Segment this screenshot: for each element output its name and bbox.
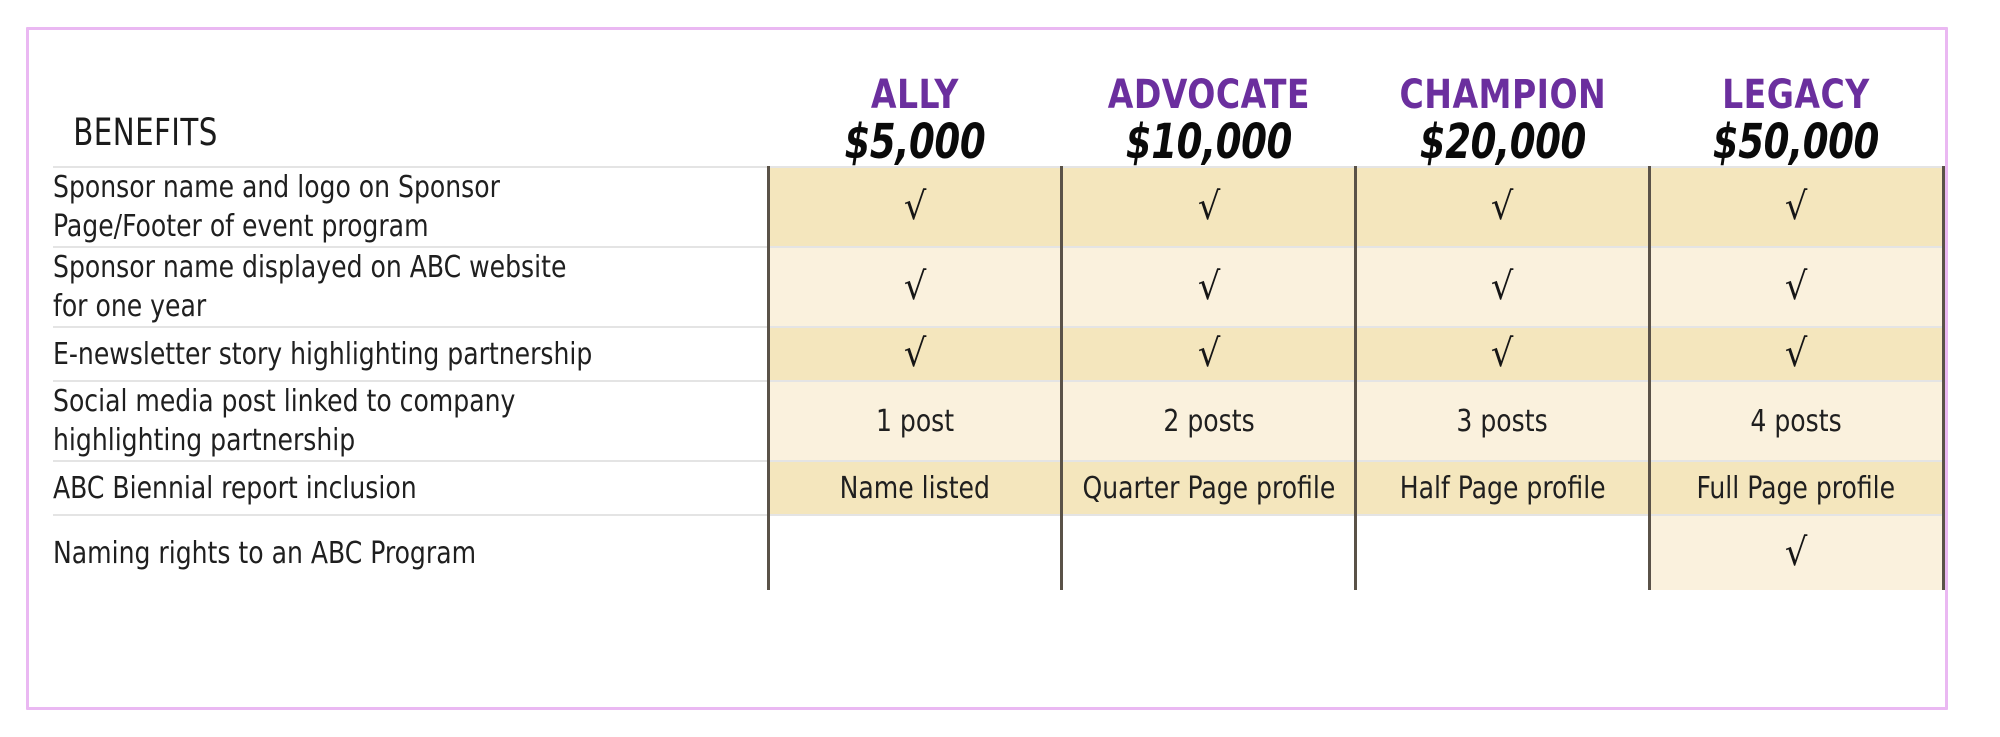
benefit-label-5: Naming rights to an ABC Program: [53, 515, 768, 590]
table-row: Sponsor name displayed on ABC website fo…: [53, 247, 1943, 327]
cell-2-champion: √: [1356, 327, 1650, 381]
cell-2-advocate: √: [1062, 327, 1356, 381]
cell-0-advocate: √: [1062, 167, 1356, 247]
cell-1-ally: √: [768, 247, 1062, 327]
outer-frame-border: BENEFITS ALLY $5,000 ADVOCATE $10,000 CH…: [26, 27, 1948, 710]
benefit-label-3: Social media post linked to company high…: [53, 381, 768, 461]
cell-value: Quarter Page profile: [1082, 471, 1335, 506]
cell-5-ally: [768, 515, 1062, 590]
benefit-label-4-line1: ABC Biennial report inclusion: [53, 469, 717, 508]
table-row: Naming rights to an ABC Program √: [53, 515, 1943, 590]
cell-1-champion: √: [1356, 247, 1650, 327]
benefit-label-2: E-newsletter story highlighting partners…: [53, 327, 768, 381]
benefit-label-0-line2: Page/Footer of event program: [53, 207, 717, 246]
check-icon: √: [1491, 267, 1514, 305]
benefit-label-1-line1: Sponsor name displayed on ABC website: [53, 248, 717, 287]
check-icon: √: [1785, 187, 1808, 225]
tier-header-champion: CHAMPION $20,000: [1356, 38, 1650, 167]
benefit-label-5-line1: Naming rights to an ABC Program: [53, 534, 717, 573]
cell-4-advocate: Quarter Page profile: [1062, 461, 1356, 515]
tier-name-legacy: LEGACY: [1661, 75, 1931, 115]
cell-5-legacy: √: [1649, 515, 1943, 590]
cell-5-advocate: [1062, 515, 1356, 590]
check-icon: √: [1491, 334, 1514, 372]
benefit-label-3-line1: Social media post linked to company: [53, 382, 717, 421]
tier-header-legacy: LEGACY $50,000: [1649, 38, 1943, 167]
cell-0-champion: √: [1356, 167, 1650, 247]
check-icon: √: [1197, 187, 1220, 225]
table-row: Social media post linked to company high…: [53, 381, 1943, 461]
benefits-header-cell: BENEFITS: [53, 38, 768, 167]
benefit-label-1-line2: for one year: [53, 287, 717, 326]
check-icon: √: [1491, 187, 1514, 225]
cell-value: 3 posts: [1457, 404, 1548, 439]
check-icon: √: [904, 334, 927, 372]
check-icon: √: [1785, 267, 1808, 305]
check-icon: √: [904, 267, 927, 305]
benefit-label-0-line1: Sponsor name and logo on Sponsor: [53, 168, 717, 207]
check-icon: √: [1785, 334, 1808, 372]
sponsorship-benefits-page: BENEFITS ALLY $5,000 ADVOCATE $10,000 CH…: [0, 0, 2000, 737]
tier-price-ally: $5,000: [789, 118, 1042, 166]
cell-3-ally: 1 post: [768, 381, 1062, 461]
table-row: E-newsletter story highlighting partners…: [53, 327, 1943, 381]
table-row: ABC Biennial report inclusion Name liste…: [53, 461, 1943, 515]
cell-0-legacy: √: [1649, 167, 1943, 247]
cell-4-ally: Name listed: [768, 461, 1062, 515]
tier-header-advocate: ADVOCATE $10,000: [1062, 38, 1356, 167]
cell-4-champion: Half Page profile: [1356, 461, 1650, 515]
table-header-row: BENEFITS ALLY $5,000 ADVOCATE $10,000 CH…: [53, 38, 1943, 167]
check-icon: √: [904, 187, 927, 225]
cell-2-ally: √: [768, 327, 1062, 381]
tier-name-ally: ALLY: [780, 75, 1050, 115]
tier-price-champion: $20,000: [1376, 118, 1629, 166]
cell-value: 1 post: [876, 404, 954, 439]
benefit-label-1: Sponsor name displayed on ABC website fo…: [53, 247, 768, 327]
cell-0-ally: √: [768, 167, 1062, 247]
check-icon: √: [1785, 533, 1808, 571]
tier-price-advocate: $10,000: [1082, 118, 1335, 166]
cell-3-advocate: 2 posts: [1062, 381, 1356, 461]
cell-5-champion: [1356, 515, 1650, 590]
cell-value: Name listed: [840, 471, 990, 506]
cell-3-legacy: 4 posts: [1649, 381, 1943, 461]
cell-value: 2 posts: [1163, 404, 1254, 439]
cell-2-legacy: √: [1649, 327, 1943, 381]
tier-name-advocate: ADVOCATE: [1074, 75, 1344, 115]
benefit-label-3-line2: highlighting partnership: [53, 421, 717, 460]
table-row: Sponsor name and logo on Sponsor Page/Fo…: [53, 167, 1943, 247]
check-icon: √: [1197, 267, 1220, 305]
cell-value: Half Page profile: [1399, 471, 1605, 506]
benefits-column-title: BENEFITS: [53, 111, 682, 166]
cell-value: Full Page profile: [1697, 471, 1896, 506]
cell-3-champion: 3 posts: [1356, 381, 1650, 461]
cell-1-legacy: √: [1649, 247, 1943, 327]
cell-value: 4 posts: [1751, 404, 1842, 439]
benefit-label-4: ABC Biennial report inclusion: [53, 461, 768, 515]
cell-1-advocate: √: [1062, 247, 1356, 327]
benefit-label-0: Sponsor name and logo on Sponsor Page/Fo…: [53, 167, 768, 247]
cell-4-legacy: Full Page profile: [1649, 461, 1943, 515]
sponsorship-benefits-table: BENEFITS ALLY $5,000 ADVOCATE $10,000 CH…: [53, 38, 1945, 590]
tier-name-champion: CHAMPION: [1367, 75, 1637, 115]
tier-header-ally: ALLY $5,000: [768, 38, 1062, 167]
tier-price-legacy: $50,000: [1670, 118, 1923, 166]
benefits-matrix-container: BENEFITS ALLY $5,000 ADVOCATE $10,000 CH…: [53, 38, 1943, 698]
benefit-label-2-line1: E-newsletter story highlighting partners…: [53, 335, 717, 374]
check-icon: √: [1197, 334, 1220, 372]
